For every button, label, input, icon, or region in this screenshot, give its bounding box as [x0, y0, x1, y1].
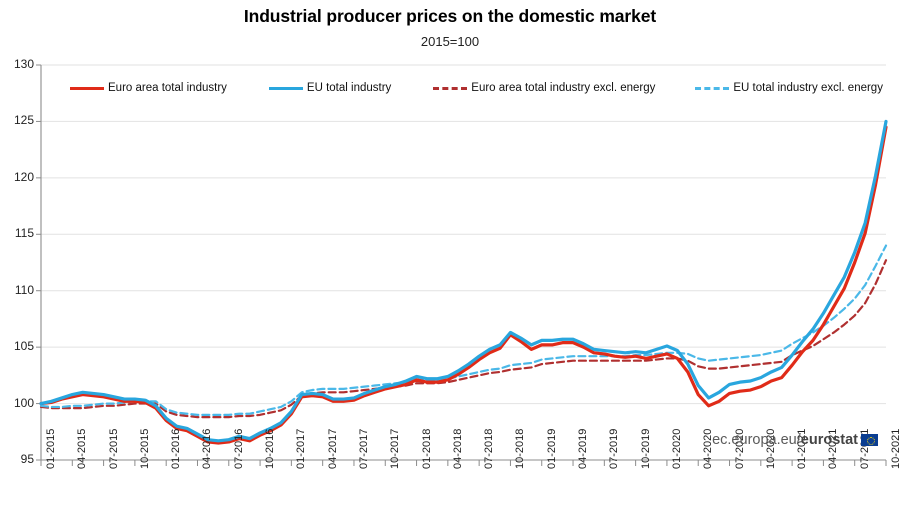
y-tick-label: 130 [0, 57, 34, 71]
x-tick-label: 04-2018 [452, 429, 464, 469]
series-line [41, 127, 886, 443]
x-tick-label: 07-2018 [483, 429, 495, 469]
x-tick-label: 10-2017 [389, 429, 401, 469]
y-tick-label: 115 [0, 226, 34, 240]
x-tick-label: 07-2017 [358, 429, 370, 469]
x-tick-label: 01-2019 [546, 429, 558, 469]
x-tick-label: 10-2021 [890, 429, 900, 469]
x-tick-label: 04-2019 [577, 429, 589, 469]
y-tick-label: 125 [0, 113, 34, 127]
x-tick-label: 01-2017 [295, 429, 307, 469]
x-tick-label: 01-2015 [45, 429, 57, 469]
y-tick-label: 95 [0, 452, 34, 466]
logo-brand: eurostat [801, 432, 858, 448]
x-tick-label: 10-2015 [139, 429, 151, 469]
x-tick-label: 07-2016 [233, 429, 245, 469]
x-tick-label: 01-2016 [170, 429, 182, 469]
x-tick-label: 10-2019 [640, 429, 652, 469]
x-tick-label: 10-2018 [514, 429, 526, 469]
eu-flag-icon [861, 434, 878, 446]
series-line [41, 121, 886, 440]
eurostat-logo: ec.europa.eu/eurostat [712, 432, 878, 448]
y-tick-label: 120 [0, 170, 34, 184]
series-line [41, 260, 886, 417]
x-tick-label: 10-2016 [264, 429, 276, 469]
y-tick-label: 105 [0, 339, 34, 353]
y-tick-label: 110 [0, 283, 34, 297]
logo-url-prefix: ec.europa.eu/ [712, 432, 801, 448]
x-tick-label: 04-2016 [201, 429, 213, 469]
chart-container: Industrial producer prices on the domest… [0, 0, 900, 531]
x-tick-label: 04-2015 [76, 429, 88, 469]
x-tick-label: 07-2015 [108, 429, 120, 469]
y-tick-label: 100 [0, 396, 34, 410]
series-line [41, 246, 886, 415]
x-tick-label: 07-2019 [608, 429, 620, 469]
x-tick-label: 04-2017 [327, 429, 339, 469]
x-tick-label: 01-2018 [421, 429, 433, 469]
x-tick-label: 01-2020 [671, 429, 683, 469]
